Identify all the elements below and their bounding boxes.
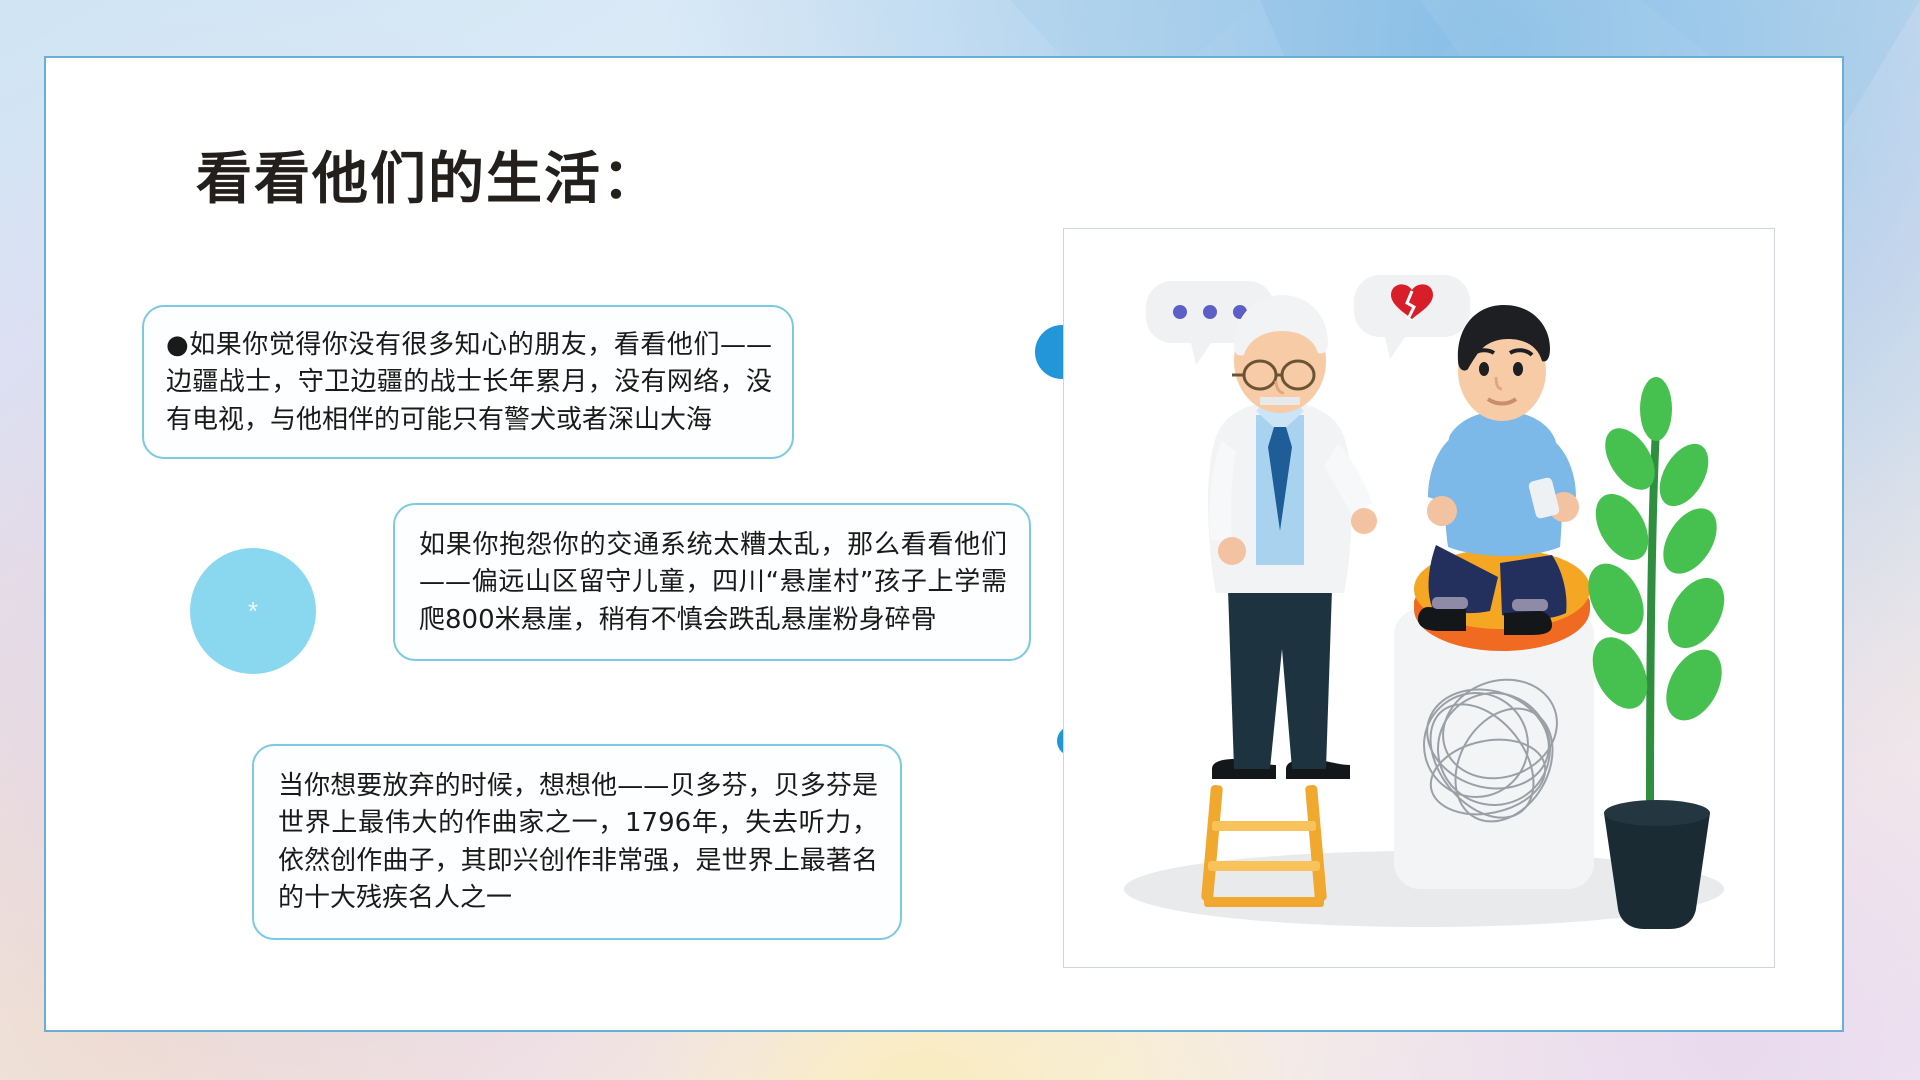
doctor-shoes bbox=[1212, 759, 1350, 779]
page-title: 看看他们的生活： bbox=[196, 134, 660, 215]
text-box-2-content: 如果你抱怨你的交通系统太糟太乱，那么看看他们——偏远山区留守儿童，四川“悬崖村”… bbox=[419, 527, 1007, 639]
text-box-1-content: ●如果你觉得你没有很多知心的朋友，看看他们——边疆战士，守卫边疆的战士长年累月，… bbox=[166, 327, 772, 439]
speech-bubble-broken-heart-icon bbox=[1354, 275, 1470, 359]
elderly-doctor-figure bbox=[1208, 295, 1377, 769]
illustration-frame bbox=[1063, 228, 1775, 968]
asterisk-icon: * bbox=[248, 596, 258, 627]
text-box-beethoven: 当你想要放弃的时候，想想他——贝多芬，贝多芬是世界上最伟大的作曲家之一，1796… bbox=[252, 744, 902, 940]
doctor-and-young-man-illustration bbox=[1064, 229, 1775, 968]
text-box-border-soldiers: ●如果你觉得你没有很多知心的朋友，看看他们——边疆战士，守卫边疆的战士长年累月，… bbox=[142, 305, 794, 459]
potted-plant-icon bbox=[1577, 377, 1736, 929]
text-box-3-content: 当你想要放弃的时候，想想他——贝多芬，贝多芬是世界上最伟大的作曲家之一，1796… bbox=[278, 768, 878, 918]
star-circle-decoration: * bbox=[190, 548, 316, 674]
slide-canvas: 看看他们的生活： ●如果你觉得你没有很多知心的朋友，看看他们——边疆战士，守卫边… bbox=[0, 0, 1920, 1080]
text-box-cliff-village: 如果你抱怨你的交通系统太糟太乱，那么看看他们——偏远山区留守儿童，四川“悬崖村”… bbox=[393, 503, 1031, 661]
